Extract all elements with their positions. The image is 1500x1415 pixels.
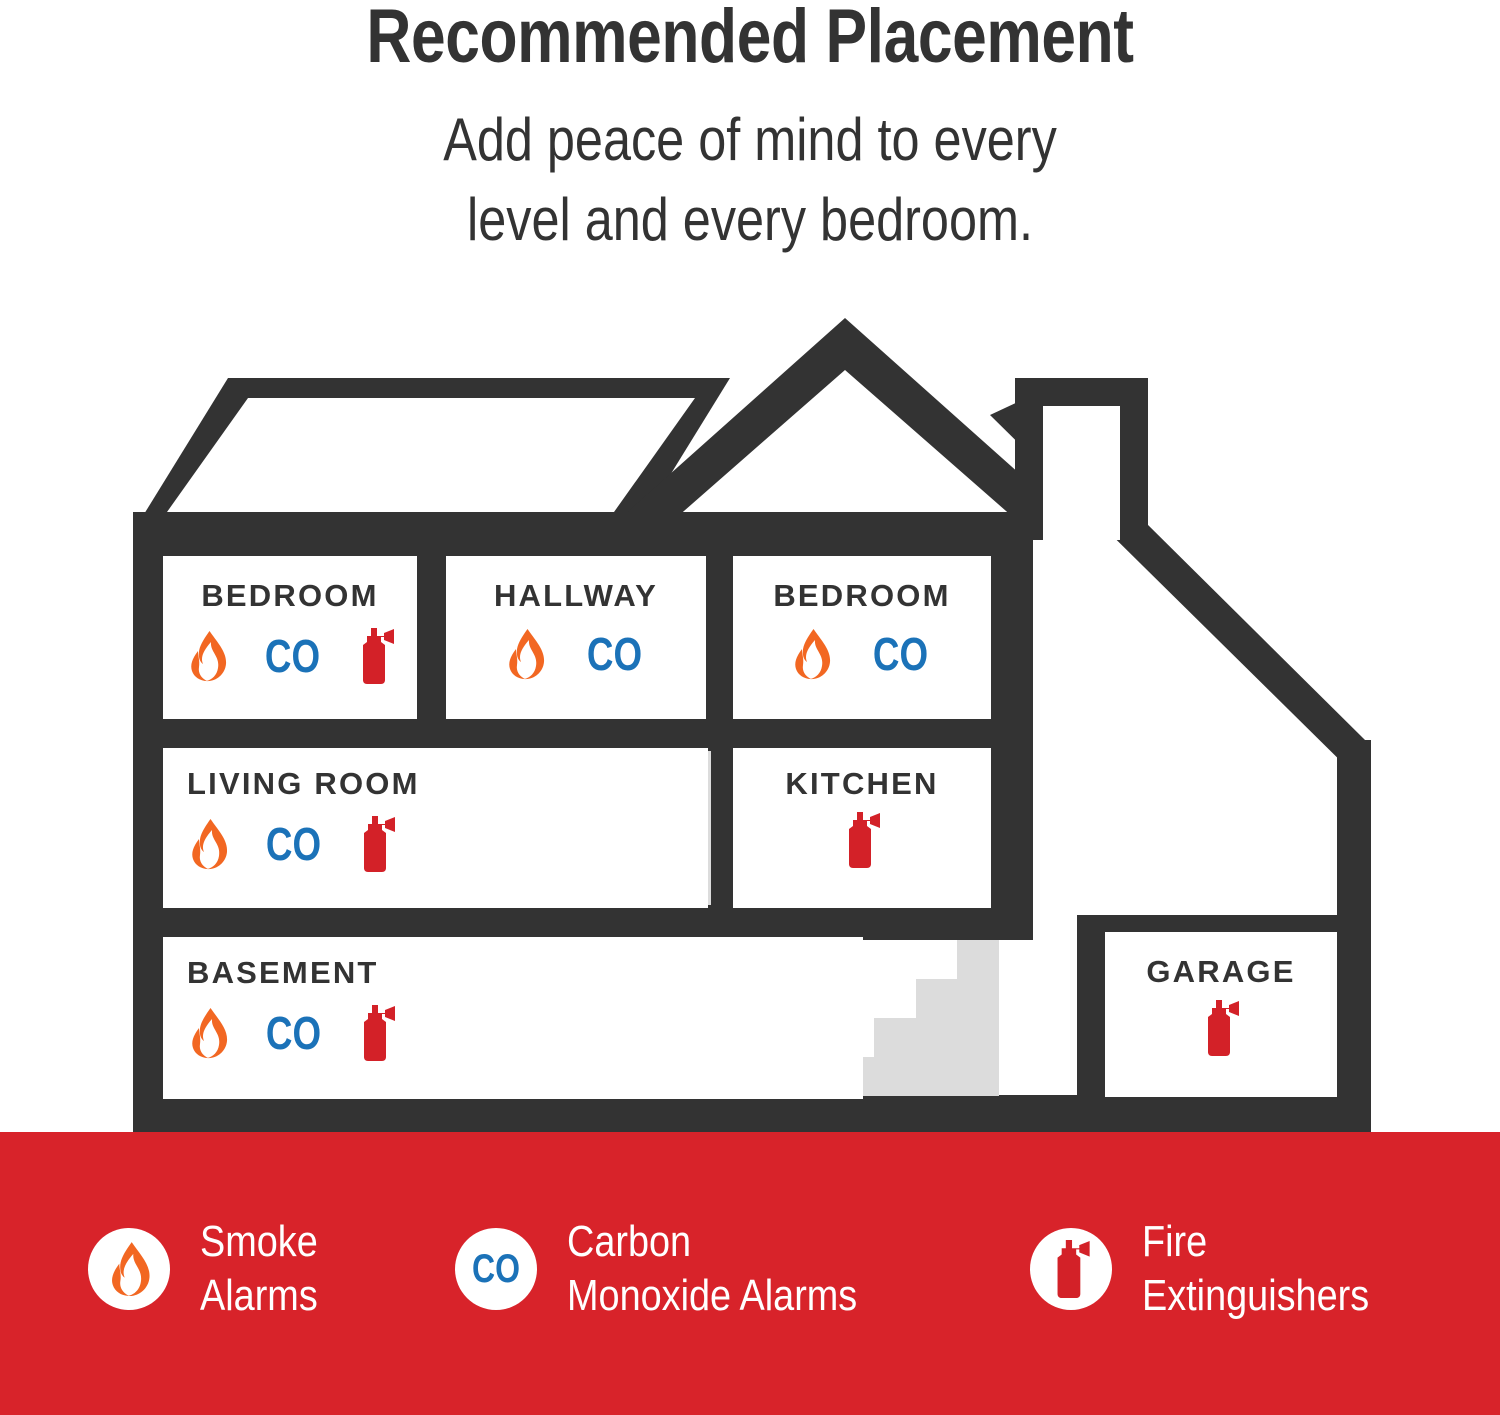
- legend-label-line-1: Fire: [1142, 1215, 1369, 1269]
- fire-extinguisher-icon: [1202, 1000, 1240, 1056]
- room-label: BASEMENT: [187, 955, 379, 991]
- partition-hallway-bedroomR: [703, 540, 735, 732]
- subtitle-line-1: Add peace of mind to every: [120, 100, 1380, 180]
- legend-badge-extinguisher: [1030, 1228, 1112, 1310]
- wall-interior-right: [991, 512, 1033, 940]
- room-hallway[interactable]: HALLWAY CO: [446, 556, 706, 719]
- subtitle-line-2: level and every bedroom.: [120, 180, 1380, 260]
- room-basement[interactable]: BASEMENT CO: [163, 937, 863, 1099]
- room-icon-row: CO: [187, 1005, 396, 1061]
- room-label: HALLWAY: [494, 578, 658, 614]
- legend-item-fire-extinguishers[interactable]: Fire Extinguishers: [1030, 1215, 1406, 1322]
- header: Recommended Placement Add peace of mind …: [0, 0, 1500, 300]
- room-icon-row: CO: [187, 816, 396, 872]
- fire-extinguisher-icon: [358, 816, 396, 872]
- co-alarm-icon: CO: [266, 1010, 321, 1056]
- fire-extinguisher-icon: [1051, 1240, 1091, 1298]
- divider-middle-basement: [133, 905, 1033, 940]
- room-label: LIVING ROOM: [187, 766, 420, 802]
- room-living-room[interactable]: LIVING ROOM CO: [163, 748, 708, 908]
- legend-label-line-2: Alarms: [200, 1269, 318, 1323]
- co-alarm-icon: CO: [266, 821, 321, 867]
- legend-label-extinguisher: Fire Extinguishers: [1142, 1215, 1369, 1322]
- room-label: BEDROOM: [773, 578, 950, 614]
- room-bedroom-left[interactable]: BEDROOM CO: [163, 556, 417, 719]
- smoke-alarm-icon: [186, 630, 228, 682]
- room-icon-row: CO: [504, 628, 649, 680]
- smoke-alarm-icon: [187, 1007, 229, 1059]
- infographic-page: Recommended Placement Add peace of mind …: [0, 0, 1500, 1415]
- smoke-alarm-icon: [187, 818, 229, 870]
- room-bedroom-right[interactable]: BEDROOM CO: [733, 556, 991, 719]
- room-icon-row: CO: [186, 628, 395, 684]
- divider-upper-middle: [133, 715, 1033, 751]
- legend-badge-smoke: [88, 1228, 170, 1310]
- legend-band: Smoke Alarms CO Carbon Monoxide Alarms F…: [0, 1132, 1500, 1415]
- room-garage[interactable]: GARAGE: [1105, 932, 1337, 1097]
- smoke-alarm-icon: [504, 628, 546, 680]
- legend-label-co: Carbon Monoxide Alarms: [567, 1215, 857, 1322]
- roof-left-hole: [167, 398, 695, 512]
- legend-label-line-2: Extinguishers: [1142, 1269, 1369, 1323]
- co-alarm-icon: CO: [586, 631, 641, 677]
- page-title: Recommended Placement: [135, 0, 1365, 78]
- ceiling-top-floor: [133, 512, 1033, 560]
- legend-label-line-2: Monoxide Alarms: [567, 1269, 857, 1323]
- fire-extinguisher-icon: [358, 1005, 396, 1061]
- partition-bedroomL-hallway: [417, 540, 449, 732]
- legend-item-smoke-alarms[interactable]: Smoke Alarms: [88, 1215, 337, 1322]
- fire-extinguisher-icon: [357, 628, 395, 684]
- co-alarm-icon: CO: [872, 631, 927, 677]
- legend-badge-co: CO: [455, 1228, 537, 1310]
- room-icon-row: CO: [790, 628, 935, 680]
- legend-label-smoke: Smoke Alarms: [200, 1215, 318, 1322]
- wall-left: [133, 512, 167, 1120]
- legend-label-line-1: Carbon: [567, 1215, 857, 1269]
- room-label: KITCHEN: [785, 766, 938, 802]
- smoke-alarm-icon: [790, 628, 832, 680]
- floor-base: [133, 1095, 1365, 1132]
- room-label: GARAGE: [1146, 954, 1295, 990]
- room-icon-row: [1202, 1000, 1240, 1056]
- house-diagram: BEDROOM CO HALLWAY CO: [0, 300, 1500, 1140]
- co-alarm-icon: CO: [472, 1249, 520, 1289]
- legend-item-carbon-monoxide[interactable]: CO Carbon Monoxide Alarms: [455, 1215, 904, 1322]
- co-alarm-icon: CO: [264, 633, 319, 679]
- fire-extinguisher-icon: [843, 812, 881, 868]
- room-icon-row: [843, 812, 881, 868]
- smoke-alarm-icon: [106, 1241, 152, 1297]
- legend-label-line-1: Smoke: [200, 1215, 318, 1269]
- room-kitchen[interactable]: KITCHEN: [733, 748, 991, 908]
- chimney-hole: [1043, 406, 1120, 540]
- room-label: BEDROOM: [201, 578, 378, 614]
- page-subtitle: Add peace of mind to every level and eve…: [120, 100, 1380, 260]
